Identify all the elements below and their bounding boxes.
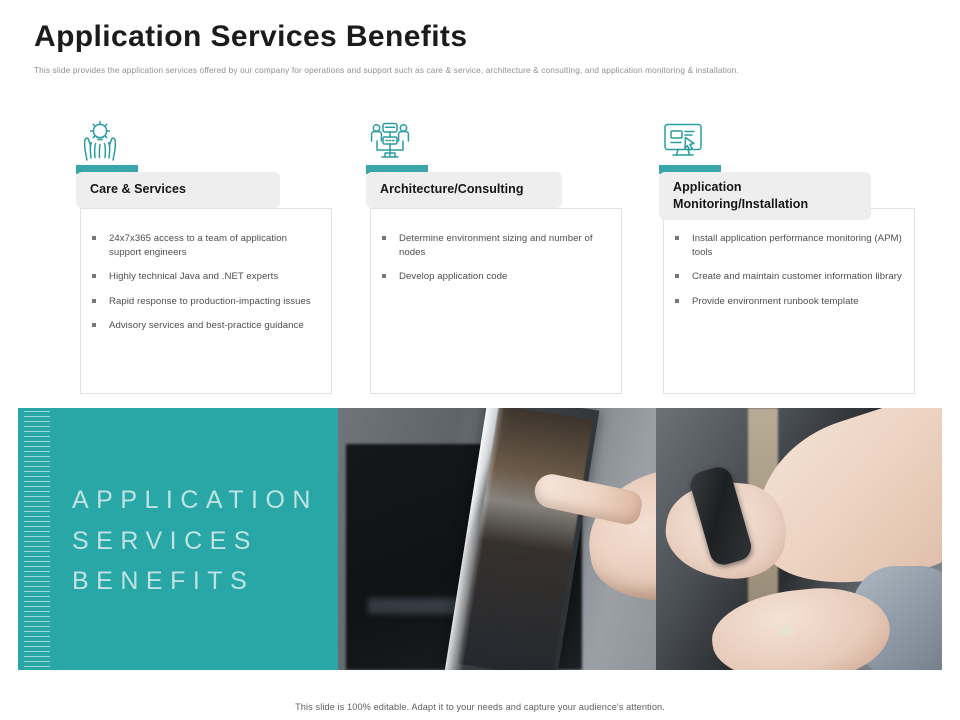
bottom-banner: APPLICATION SERVICES BENEFITS — [18, 408, 942, 670]
photo-arm-section — [656, 408, 942, 670]
footer-note: This slide is 100% editable. Adapt it to… — [0, 702, 960, 712]
benefit-column-care-services: Care & Services 24x7x365 access to a tea… — [62, 120, 352, 395]
list-item: Highly technical Java and .NET experts — [90, 270, 322, 284]
benefit-column-architecture-consulting: Architecture/Consulting Determine enviro… — [352, 120, 642, 395]
monitor-cursor-icon — [661, 120, 705, 162]
list-item: 24x7x365 access to a team of application… — [90, 232, 322, 259]
banner-title-line: SERVICES — [72, 521, 318, 562]
benefit-bullet-list: Install application performance monitori… — [673, 232, 905, 319]
list-item: Determine environment sizing and number … — [380, 232, 612, 259]
teal-title-panel: APPLICATION SERVICES BENEFITS — [18, 408, 338, 670]
list-item: Provide environment runbook template — [673, 295, 905, 309]
banner-title: APPLICATION SERVICES BENEFITS — [72, 480, 318, 602]
slide-canvas: Application Services Benefits This slide… — [0, 0, 960, 720]
benefit-bullet-list: Determine environment sizing and number … — [380, 232, 612, 295]
list-item: Develop application code — [380, 270, 612, 284]
benefit-heading: Care & Services — [90, 181, 266, 198]
benefit-heading-badge[interactable]: Care & Services — [76, 172, 280, 208]
hand-pointing-at-tablet-photo — [338, 408, 942, 670]
page-subtitle: This slide provides the application serv… — [34, 66, 739, 75]
list-item: Install application performance monitori… — [673, 232, 905, 259]
list-item: Create and maintain customer information… — [673, 270, 905, 284]
hands-holding-idea-icon — [78, 120, 122, 162]
page-title: Application Services Benefits — [34, 20, 467, 54]
list-item: Rapid response to production-impacting i… — [90, 295, 322, 309]
benefit-bullet-list: 24x7x365 access to a team of application… — [90, 232, 322, 344]
stripe-pattern — [24, 411, 50, 667]
list-item: Advisory services and best-practice guid… — [90, 319, 322, 333]
team-architecture-icon — [368, 120, 412, 162]
benefit-columns: Care & Services 24x7x365 access to a tea… — [0, 120, 960, 400]
benefit-heading: Application Monitoring/Installation — [673, 179, 857, 212]
banner-title-line: BENEFITS — [72, 561, 318, 602]
banner-title-line: APPLICATION — [72, 480, 318, 521]
benefit-heading-badge[interactable]: Application Monitoring/Installation — [659, 172, 871, 220]
benefit-heading-badge[interactable]: Architecture/Consulting — [366, 172, 562, 208]
benefit-column-application-monitoring: Application Monitoring/Installation Inst… — [645, 120, 935, 395]
benefit-heading: Architecture/Consulting — [380, 181, 548, 198]
